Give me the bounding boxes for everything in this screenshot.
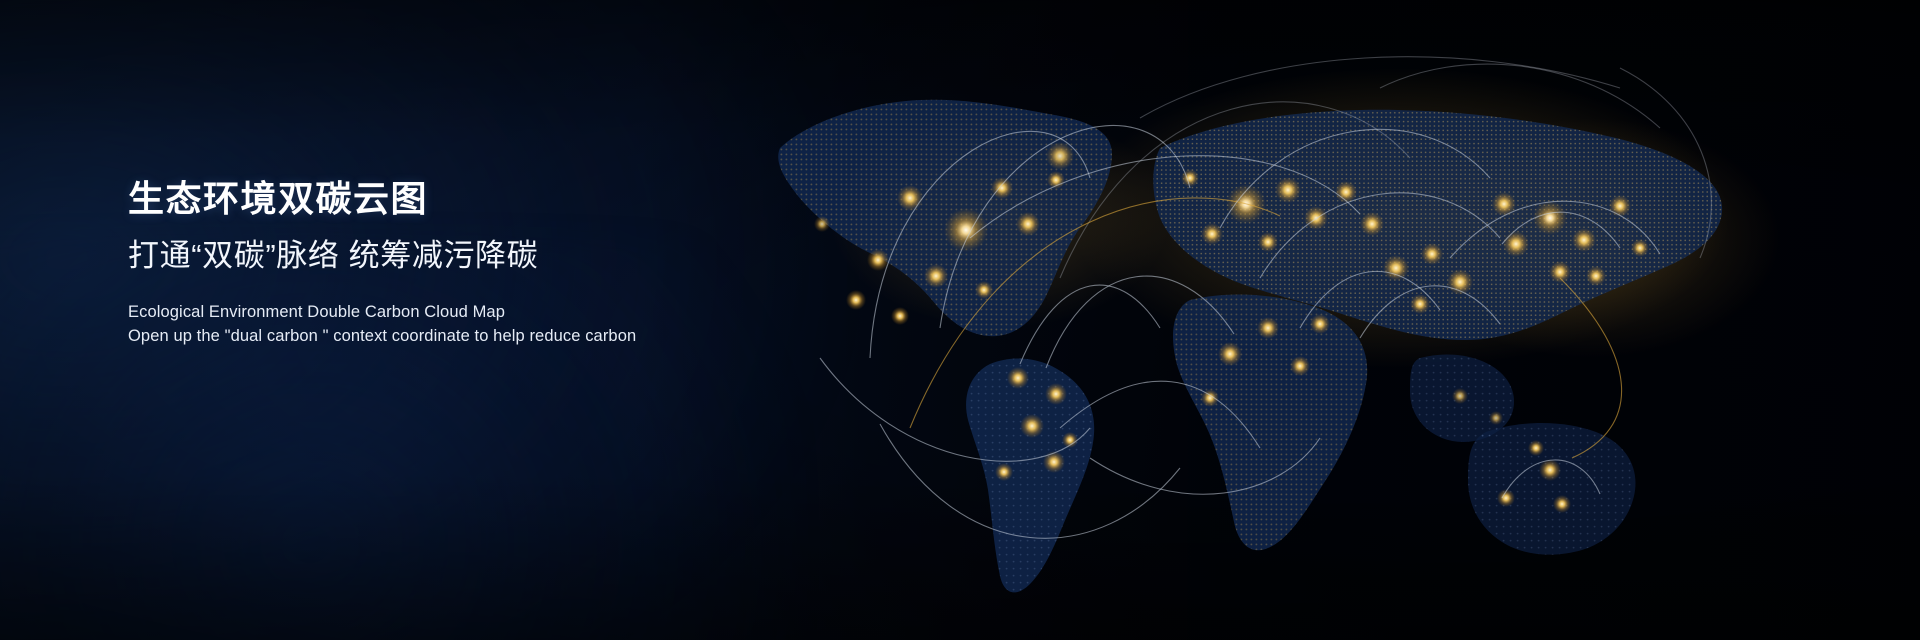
english-title-line: Ecological Environment Double Carbon Clo… (128, 300, 888, 324)
english-subtitle-line: Open up the "dual carbon " context coord… (128, 324, 888, 348)
page-title: 生态环境双碳云图 (128, 176, 888, 222)
hero-banner: 生态环境双碳云图 打通“双碳”脉络 统筹减污降碳 Ecological Envi… (0, 0, 1920, 640)
page-subtitle: 打通“双碳”脉络 统筹减污降碳 (128, 234, 888, 278)
hero-text-block: 生态环境双碳云图 打通“双碳”脉络 统筹减污降碳 Ecological Envi… (128, 176, 888, 348)
